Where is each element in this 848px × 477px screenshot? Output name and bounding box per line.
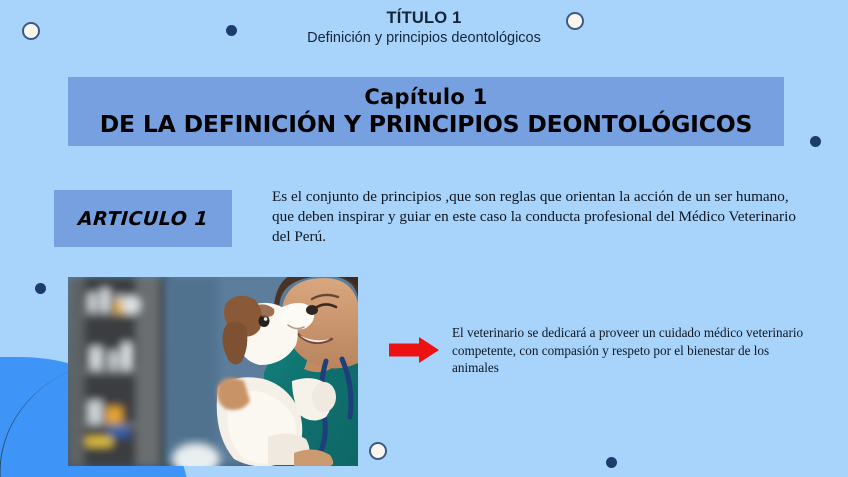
red-right-arrow-icon	[389, 337, 439, 363]
presentation-slide: TÍTULO 1 Definición y principios deontol…	[0, 0, 848, 477]
definition-paragraph: Es el conjunto de principios ,que son re…	[272, 187, 808, 247]
slide-header: TÍTULO 1 Definición y principios deontol…	[0, 9, 848, 47]
chapter-number-text: Capítulo 1	[364, 84, 487, 110]
chapter-banner: Capítulo 1 DE LA DEFINICIÓN Y PRINCIPIOS…	[68, 77, 784, 146]
chapter-title-text: DE LA DEFINICIÓN Y PRINCIPIOS DEONTOLÓGI…	[100, 110, 753, 139]
veterinarian-holding-puppy-photo	[68, 277, 358, 466]
header-subtitle: Definición y principios deontológicos	[0, 29, 848, 47]
articulo-label-box: ARTICULO 1	[54, 190, 232, 247]
decorative-dot-bottom	[606, 457, 617, 468]
articulo-label-text: ARTICULO 1	[77, 208, 209, 230]
decorative-circle-bottom-center	[369, 442, 387, 460]
header-title: TÍTULO 1	[0, 9, 848, 28]
commitment-paragraph: El veterinario se dedicará a proveer un …	[452, 324, 814, 377]
decorative-dot-left	[35, 283, 46, 294]
decorative-dot-right	[810, 136, 821, 147]
